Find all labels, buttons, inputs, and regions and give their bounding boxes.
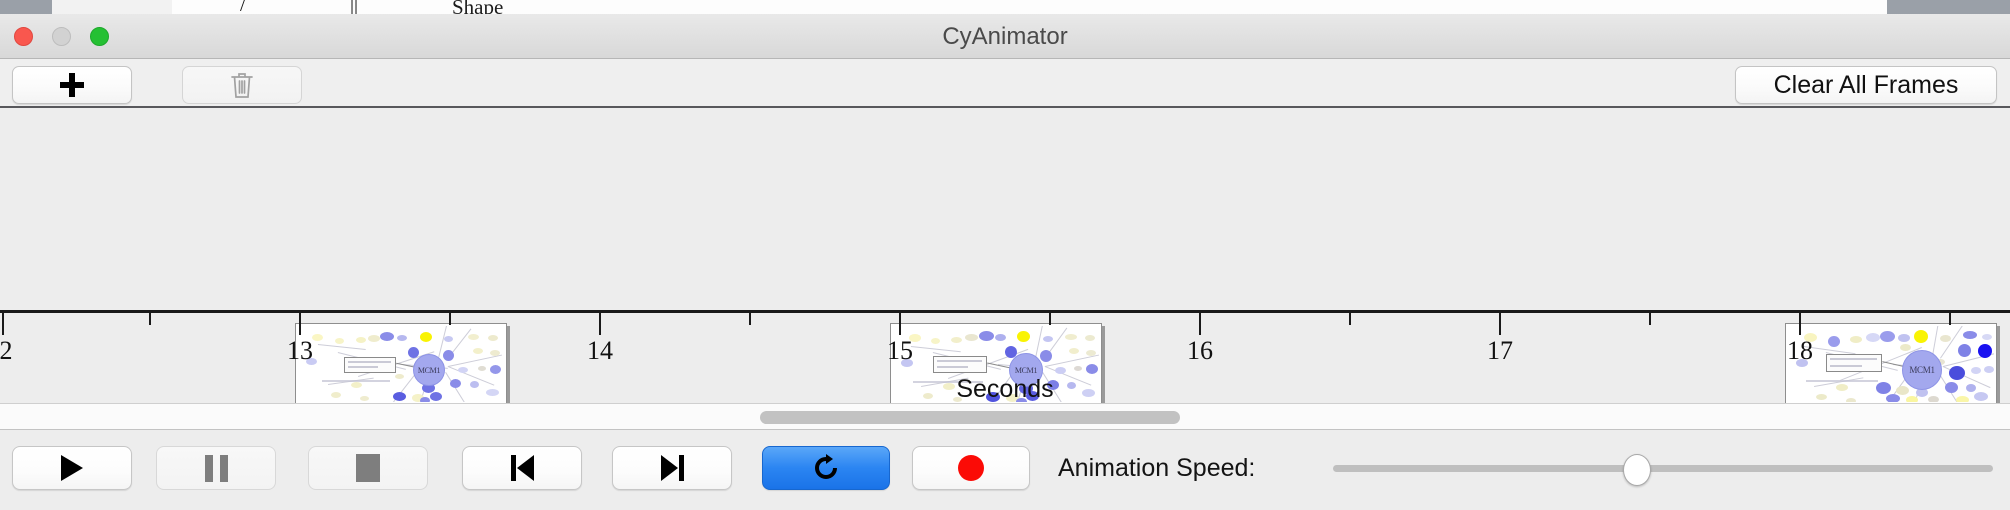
axis-tick-label: 13 xyxy=(287,336,313,366)
axis-tick-major xyxy=(299,313,301,335)
axis-tick-label: 14 xyxy=(587,336,613,366)
axis-tick-minor xyxy=(1649,313,1651,325)
playback-controls: Animation Speed: xyxy=(0,431,2010,510)
skip-forward-button[interactable] xyxy=(612,446,732,490)
frame-toolbar: Clear All Frames xyxy=(0,59,2010,108)
background-glyph: / xyxy=(240,0,246,14)
timeline-axis-line xyxy=(0,310,2010,313)
animation-speed-label: Animation Speed: xyxy=(1058,446,1255,490)
axis-tick-minor xyxy=(1349,313,1351,325)
axis-tick-label: 17 xyxy=(1487,336,1513,366)
loop-toggle-button[interactable] xyxy=(762,446,890,490)
play-icon xyxy=(61,455,83,481)
axis-tick-label: 18 xyxy=(1787,336,1813,366)
background-glyph: || xyxy=(350,0,358,14)
axis-tick-label: 16 xyxy=(1187,336,1213,366)
background-window-label: Shape xyxy=(452,0,503,14)
plus-icon xyxy=(60,73,84,97)
axis-tick-minor xyxy=(1949,313,1951,325)
axis-tick-minor xyxy=(149,313,151,325)
loop-icon xyxy=(811,453,841,483)
skip-backward-button[interactable] xyxy=(462,446,582,490)
axis-tick-major xyxy=(1199,313,1201,335)
axis-title: Seconds xyxy=(0,375,2010,404)
play-button[interactable] xyxy=(12,446,132,490)
tooltip-callout xyxy=(1826,354,1882,372)
record-icon xyxy=(958,455,984,481)
delete-frame-button[interactable] xyxy=(182,66,302,104)
skip-backward-icon xyxy=(511,455,534,481)
stop-icon xyxy=(356,454,380,482)
animation-speed-slider[interactable] xyxy=(1333,446,1993,490)
axis-tick-label: 15 xyxy=(887,336,913,366)
axis-tick-minor xyxy=(1049,313,1051,325)
axis-tick-minor xyxy=(449,313,451,325)
clear-all-frames-button[interactable]: Clear All Frames xyxy=(1735,66,1997,104)
timeline-panel[interactable]: MCM1 xyxy=(0,108,2010,404)
trash-icon xyxy=(230,71,254,99)
axis-tick-major xyxy=(1499,313,1501,335)
tooltip-callout xyxy=(344,357,396,373)
axis-tick-major xyxy=(599,313,601,335)
title-bar: CyAnimator xyxy=(0,14,2010,59)
window-title: CyAnimator xyxy=(0,14,2010,59)
pause-icon xyxy=(205,455,228,482)
stop-button[interactable] xyxy=(308,446,428,490)
scrollbar-thumb[interactable] xyxy=(760,411,1180,424)
record-button[interactable] xyxy=(912,446,1030,490)
cyanimator-window: / || Shape CyAnimator Clear All Frames xyxy=(0,0,2010,510)
slider-track[interactable] xyxy=(1333,465,1993,472)
pause-button[interactable] xyxy=(156,446,276,490)
skip-forward-icon xyxy=(661,455,684,481)
axis-tick-minor xyxy=(749,313,751,325)
add-frame-button[interactable] xyxy=(12,66,132,104)
axis-tick-major xyxy=(2,313,4,335)
clear-all-frames-label: Clear All Frames xyxy=(1774,71,1959,100)
background-window-strip: / || Shape xyxy=(0,0,2010,14)
timeline-scrollbar[interactable] xyxy=(0,404,2010,430)
axis-tick-major xyxy=(899,313,901,335)
axis-tick-major xyxy=(1799,313,1801,335)
axis-tick-label: 2 xyxy=(0,336,13,366)
tooltip-callout xyxy=(933,356,987,373)
slider-thumb[interactable] xyxy=(1623,454,1651,486)
